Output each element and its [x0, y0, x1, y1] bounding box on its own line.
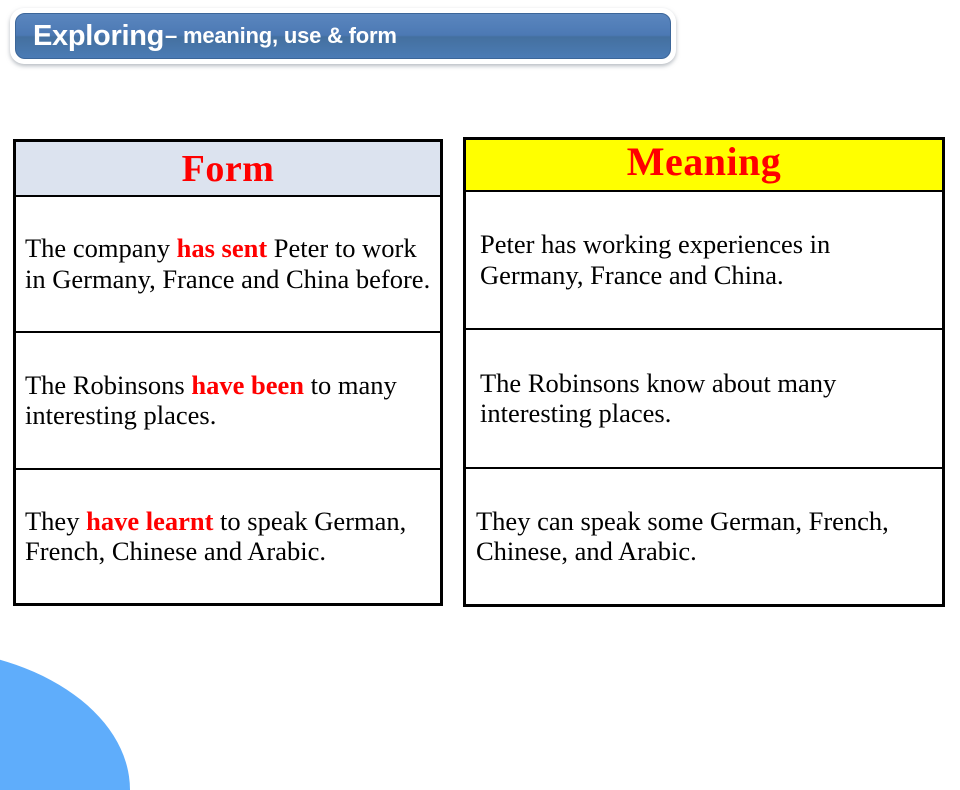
meaning-sentence-3: They can speak some German, French, Chin…	[466, 503, 942, 570]
form-table-cell: The Robinsons have been to many interest…	[16, 332, 440, 468]
table-row: The Robinsons know about many interestin…	[466, 329, 942, 467]
table-row: Form	[16, 142, 440, 196]
title-banner: Exploring – meaning, use & form	[10, 8, 676, 64]
form-table: Form The company has sent Peter to work …	[13, 139, 443, 606]
meaning-table-cell: They can speak some German, French, Chin…	[466, 468, 942, 604]
meaning-table-cell: Peter has working experiences in Germany…	[466, 191, 942, 329]
form-sentence-3: They have learnt to speak German, French…	[16, 502, 440, 571]
table-row: The Robinsons have been to many interest…	[16, 332, 440, 468]
form-table-cell: The company has sent Peter to work in Ge…	[16, 196, 440, 332]
title-banner-inner: Exploring – meaning, use & form	[15, 13, 671, 59]
meaning-table: Meaning Peter has working experiences in…	[463, 137, 945, 607]
text-segment: The Robinsons	[25, 370, 191, 400]
table-row: They can speak some German, French, Chin…	[466, 468, 942, 604]
form-sentence-1: The company has sent Peter to work in Ge…	[16, 229, 440, 298]
form-sentence-2: The Robinsons have been to many interest…	[16, 366, 440, 435]
meaning-table-header-cell: Meaning	[466, 140, 942, 191]
meaning-sentence-2: The Robinsons know about many interestin…	[466, 365, 942, 432]
emphasis-segment: have been	[191, 370, 304, 400]
table-row: The company has sent Peter to work in Ge…	[16, 196, 440, 332]
table-row: Meaning	[466, 140, 942, 191]
banner-title-main: Exploring	[33, 22, 164, 51]
banner-title-subtitle: – meaning, use & form	[164, 25, 397, 47]
table-row: Peter has working experiences in Germany…	[466, 191, 942, 329]
form-table-header-label: Form	[16, 150, 440, 188]
table-row: They have learnt to speak German, French…	[16, 469, 440, 603]
text-segment: The company	[25, 233, 177, 263]
meaning-table-cell: The Robinsons know about many interestin…	[466, 329, 942, 467]
form-table-header-cell: Form	[16, 142, 440, 196]
meaning-sentence-1: Peter has working experiences in Germany…	[466, 226, 942, 293]
emphasis-segment: has sent	[177, 233, 268, 263]
text-segment: They	[25, 506, 86, 536]
meaning-table-header-label: Meaning	[466, 142, 942, 182]
corner-decoration-shape	[0, 648, 130, 790]
form-table-cell: They have learnt to speak German, French…	[16, 469, 440, 603]
emphasis-segment: have learnt	[86, 506, 213, 536]
